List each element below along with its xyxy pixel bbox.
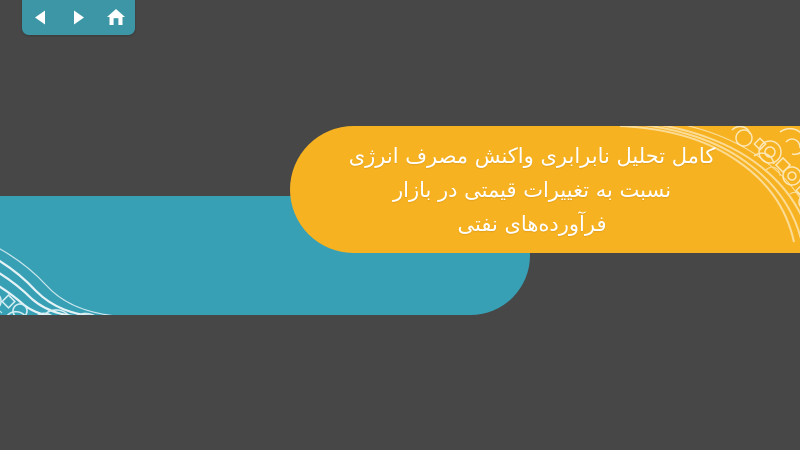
orange-title-panel: [290, 126, 800, 253]
navigation-bar: [22, 0, 135, 35]
orange-arabesque-ornament: [620, 126, 800, 244]
triangle-right-icon: [70, 9, 87, 26]
teal-arabesque-ornament: [0, 197, 180, 315]
triangle-left-icon: [32, 9, 49, 26]
home-icon: [106, 8, 126, 27]
presentation-slide: کامل تحلیل نابرابری واکنش مصرف انرژی نسب…: [0, 0, 800, 450]
forward-button[interactable]: [65, 6, 91, 28]
home-button[interactable]: [103, 6, 129, 28]
back-button[interactable]: [28, 6, 54, 28]
